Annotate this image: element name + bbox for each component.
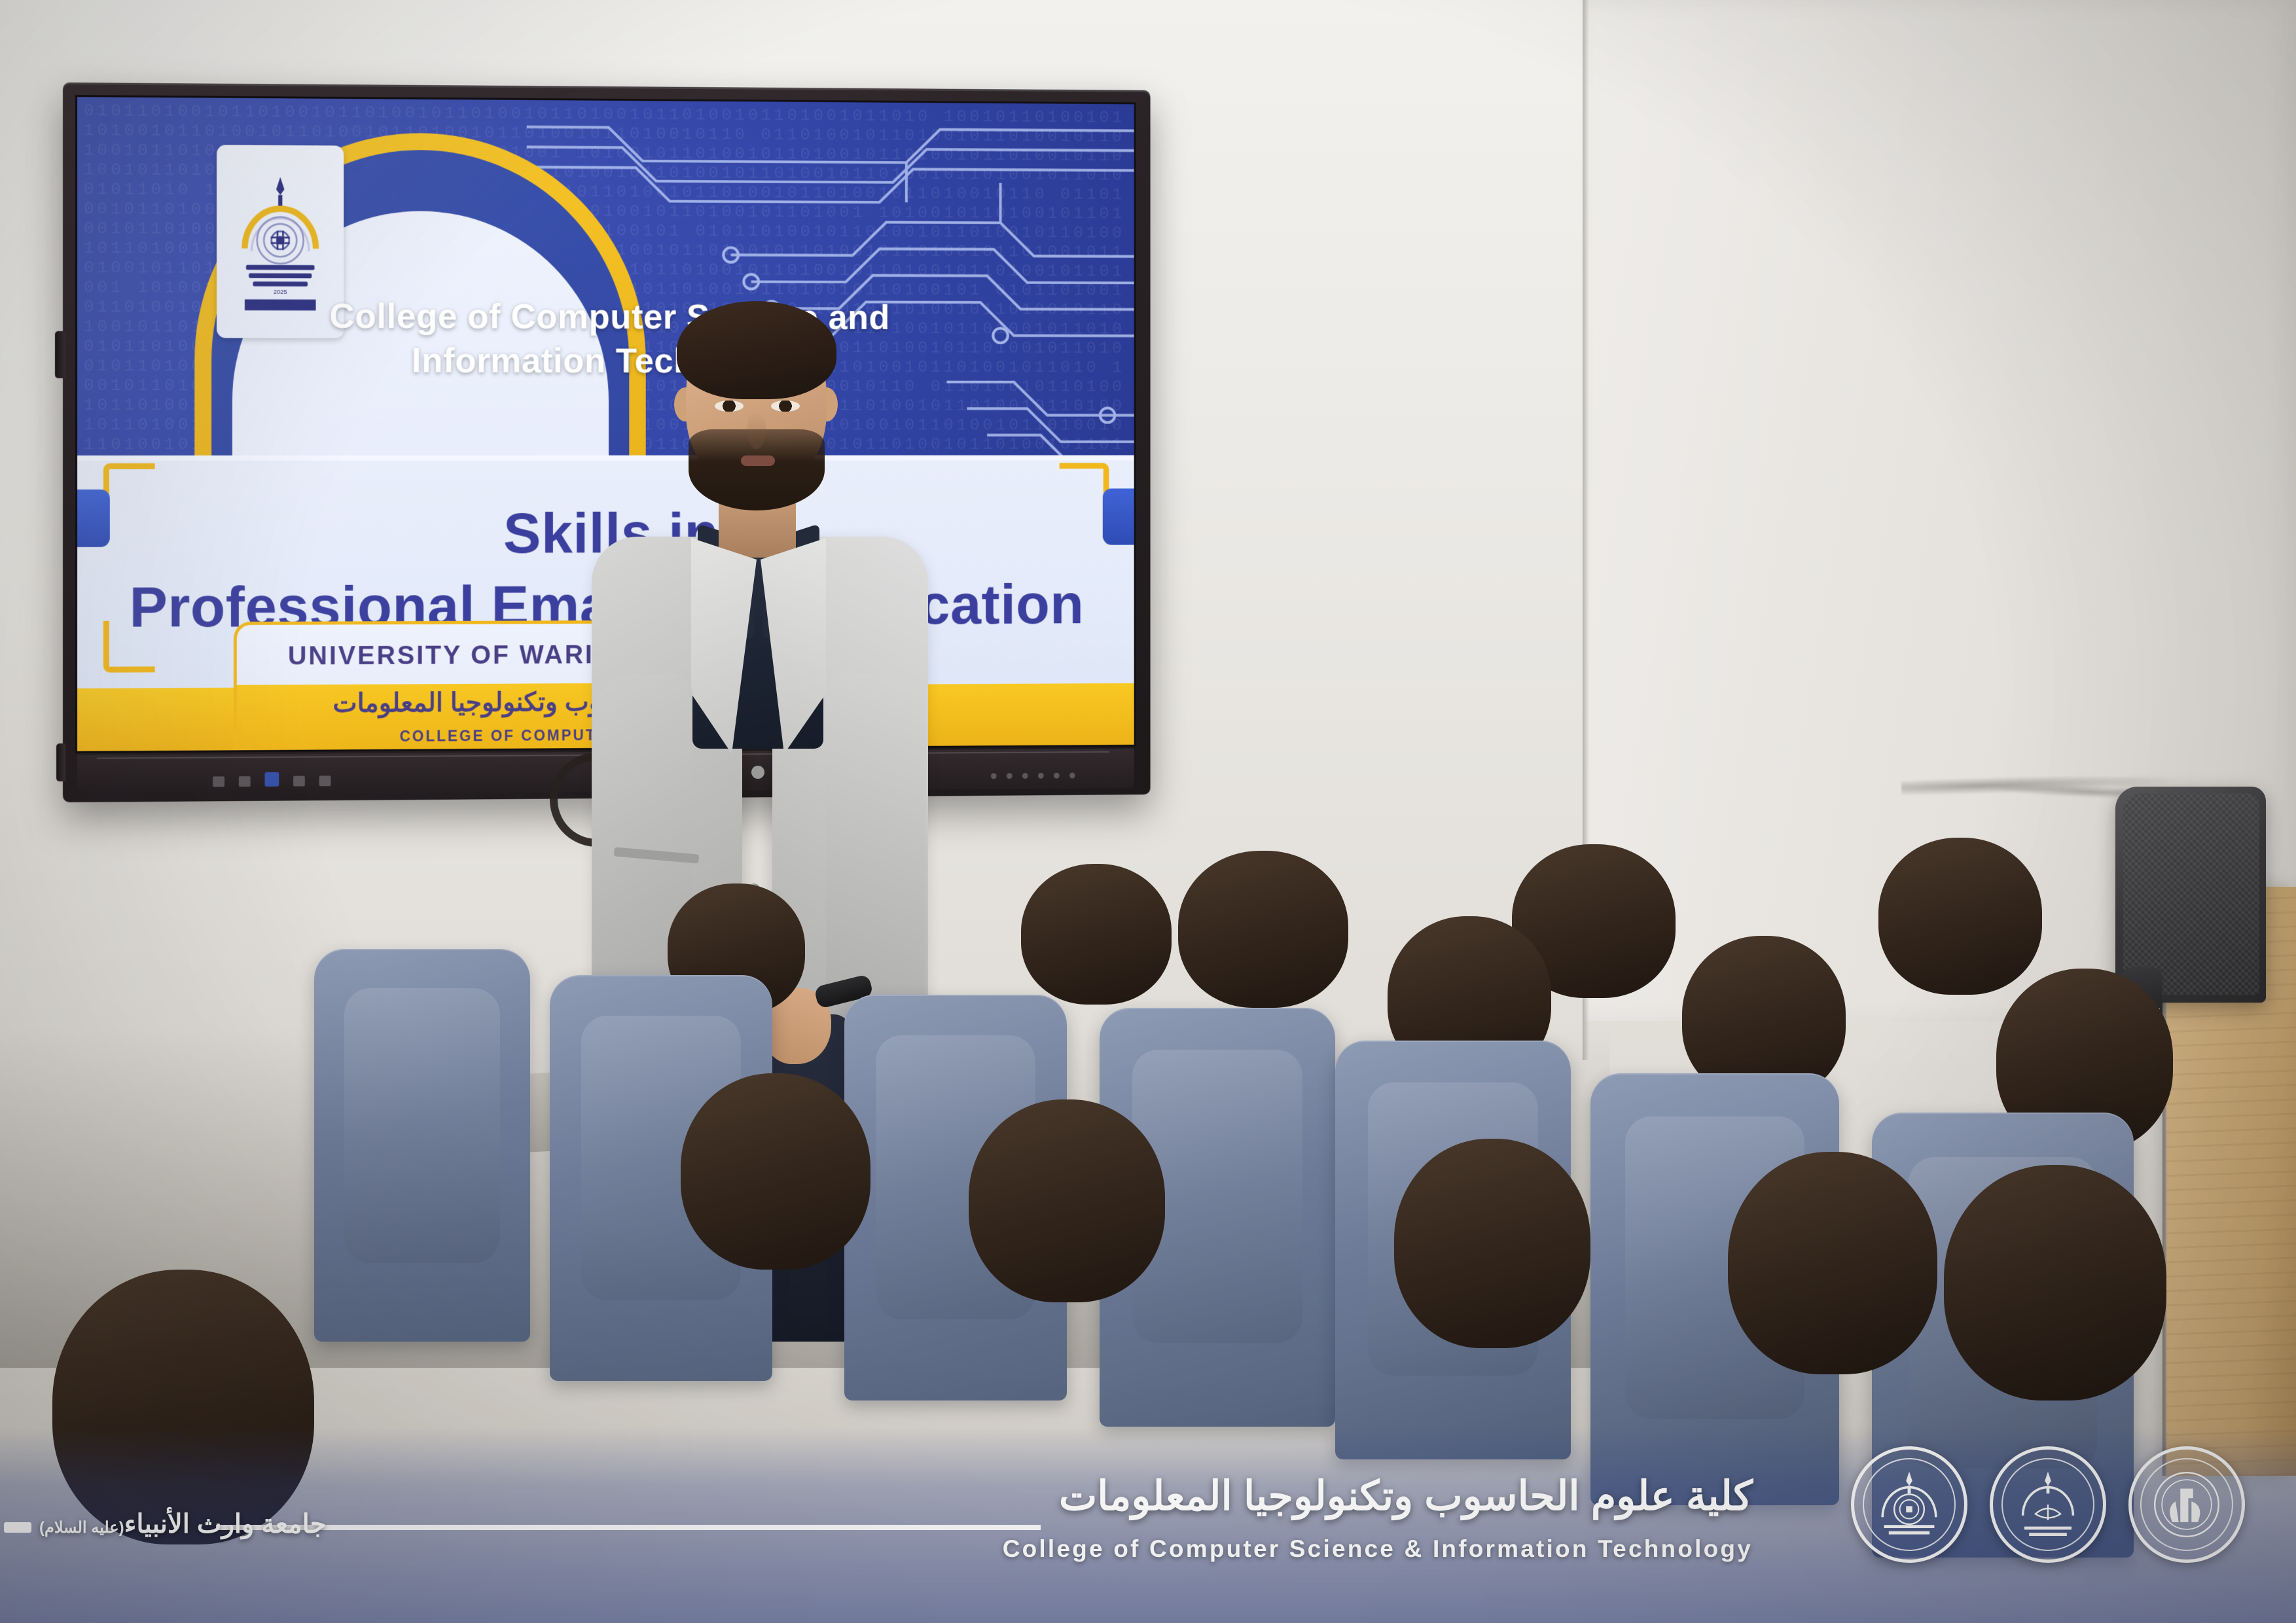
- footer-divider-line: [216, 1525, 1041, 1530]
- ministry-seal-right: [2128, 1446, 2245, 1563]
- speaker-dot: [1022, 773, 1028, 779]
- university-emblem-icon-secondary: [2009, 1465, 2087, 1544]
- footer-university-arabic: جامعة وارث الأنبياء(عليه السلام): [39, 1509, 327, 1539]
- display-port-cluster[interactable]: [213, 772, 331, 787]
- audience-head-front: [52, 1270, 314, 1544]
- presenter-eye-left: [715, 401, 744, 412]
- auditorium-seat[interactable]: [314, 949, 530, 1342]
- university-seal-middle: [1990, 1446, 2106, 1563]
- presenter-hair: [677, 301, 836, 399]
- audience-head: [1878, 838, 2042, 995]
- port-icon-aux-1[interactable]: [293, 776, 305, 787]
- speaker-dot: [1007, 773, 1013, 779]
- audience-head: [1021, 864, 1172, 1005]
- port-icon-power[interactable]: [213, 776, 224, 787]
- audience-head-front: [969, 1099, 1165, 1302]
- ministry-emblem-icon: [2147, 1465, 2227, 1544]
- footer-accent-dash: [4, 1522, 31, 1533]
- university-emblem-icon: [1870, 1465, 1948, 1544]
- audience-head-front: [1394, 1139, 1590, 1348]
- footer-brand-arabic: كلية علوم الحاسوب وتكنولوجيا المعلومات: [1059, 1472, 1753, 1520]
- presenter-jacket-button-upper: [751, 766, 764, 779]
- speaker-dot: [1054, 773, 1060, 779]
- footer-university-name: جامعة وارث الأنبياء: [124, 1510, 327, 1539]
- seal-inner-ring: [1863, 1458, 1956, 1551]
- presenter-mouth: [741, 455, 775, 466]
- speaker-dot: [1038, 773, 1044, 779]
- audience-head-front: [681, 1073, 870, 1270]
- footer-university-suffix: (عليه السلام): [39, 1519, 124, 1537]
- screenshot-root: 0101101001011010010110100101101001011010…: [0, 0, 2296, 1623]
- display-speaker-dots: [991, 773, 1075, 779]
- port-icon-aux-2[interactable]: [319, 776, 331, 786]
- port-icon-hdmi[interactable]: [239, 776, 251, 787]
- speaker-dot: [1069, 773, 1075, 779]
- audience-head-front: [1944, 1165, 2166, 1400]
- speaker-dot: [991, 773, 997, 779]
- display-side-button-bottom[interactable]: [56, 743, 65, 781]
- presenter-nose: [747, 412, 766, 449]
- seal-inner-ring: [2140, 1458, 2233, 1551]
- footer-brand-english: College of Computer Science & Informatio…: [1003, 1535, 1753, 1563]
- display-side-button-top[interactable]: [55, 331, 65, 378]
- audience-head: [1178, 851, 1348, 1008]
- seal-inner-ring: [2001, 1458, 2094, 1551]
- presenter-eye-right: [771, 401, 800, 412]
- university-seal-left: [1851, 1446, 1967, 1563]
- footer-seal-group: [1851, 1446, 2245, 1563]
- port-icon-usb[interactable]: [264, 772, 279, 787]
- audience-head-front: [1728, 1152, 1937, 1374]
